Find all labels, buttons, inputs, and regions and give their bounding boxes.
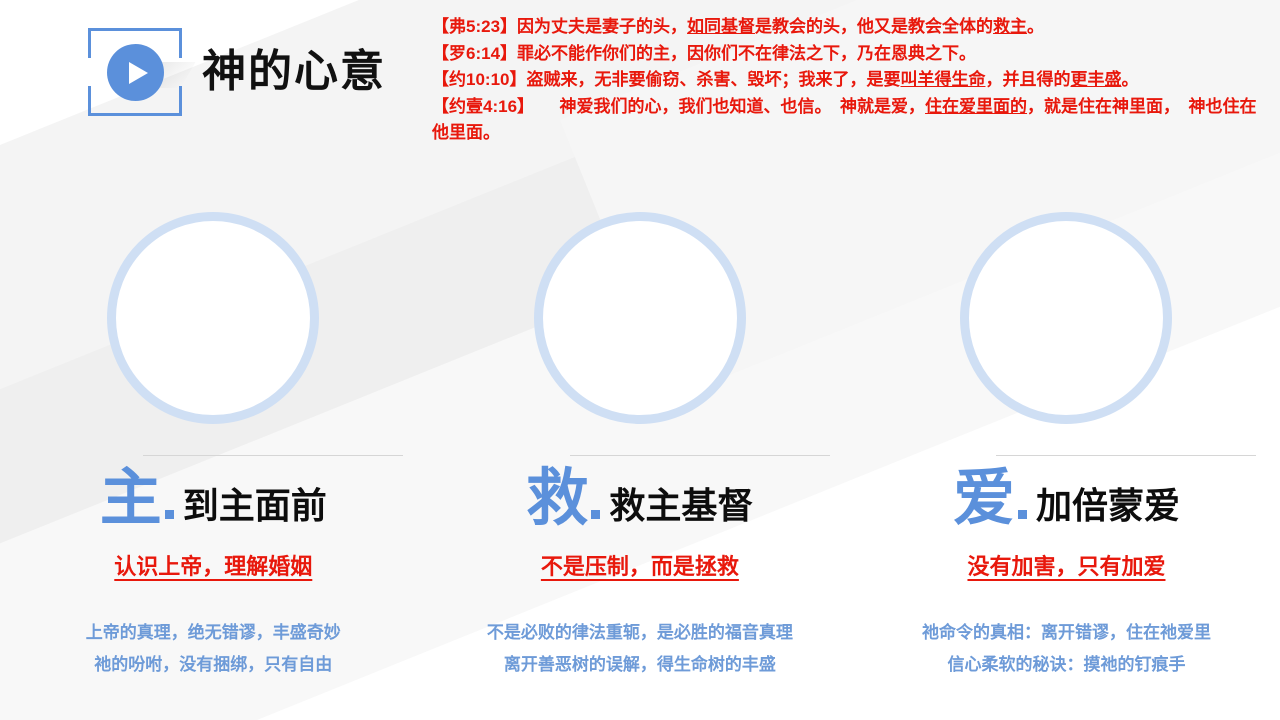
scripture-text: 神爱我们的心，我们也知道、也信。 神就是爱，	[526, 97, 926, 116]
sub-title-2: 救主基督	[609, 488, 753, 524]
blue-line-1-2: 祂的吩咐，没有捆绑，只有自由	[86, 649, 341, 681]
circle-image-2	[534, 212, 746, 424]
blue-line-2-2: 离开善恶树的误解，得生命树的丰盛	[487, 649, 793, 681]
scripture-block: 【弗5:23】因为丈夫是妻子的头，如同基督是教会的头，他又是教会全体的救主。【罗…	[432, 14, 1266, 147]
big-char-1: 主	[100, 470, 162, 527]
scripture-emphasis: 如同基督	[687, 17, 755, 36]
logo-frame-right-lower	[179, 86, 182, 116]
blue-lines-2: 不是必败的律法重轭，是必胜的福音真理 离开善恶树的误解，得生命树的丰盛	[487, 617, 793, 681]
scripture-text: 是教会的头，他又是教会全体的	[755, 17, 993, 36]
column-3: 爱 加倍蒙爱 没有加害，只有加爱 祂命令的真相：离开错谬，住在祂爱里 信心柔软的…	[853, 198, 1280, 681]
blue-line-1-1: 上帝的真理，绝无错谬，丰盛奇妙	[86, 617, 341, 649]
logo-frame-left-lower	[88, 86, 91, 116]
scripture-line-2: 【罗6:14】罪必不能作你们的主，因你们不在律法之下，乃在恩典之下。	[432, 41, 1266, 68]
column-separator-2	[570, 455, 830, 456]
brand-block: 神的心意	[86, 26, 386, 118]
logo-frame-right-upper	[179, 28, 182, 58]
blue-line-3-2: 信心柔软的秘诀：摸祂的钉痕手	[922, 649, 1211, 681]
column-separator-1	[143, 455, 403, 456]
big-char-3: 爱	[953, 470, 1015, 527]
circle-image-1	[107, 212, 319, 424]
column-1: 主 到主面前 认识上帝，理解婚姻 上帝的真理，绝无错谬，丰盛奇妙 祂的吩咐，没有…	[0, 198, 427, 681]
scripture-emphasis: 住在爱里面的	[925, 97, 1027, 116]
logo-frame-left-upper	[88, 28, 91, 58]
heading-dot-1	[165, 510, 174, 519]
slide-canvas: 神的心意 【弗5:23】因为丈夫是妻子的头，如同基督是教会的头，他又是教会全体的…	[0, 0, 1280, 720]
red-title-1: 认识上帝，理解婚姻	[114, 549, 312, 581]
logo-frame-top	[88, 28, 182, 31]
scripture-line-4: 【约壹4:16】 神爱我们的心，我们也知道、也信。 神就是爱，住在爱里面的，就是…	[432, 94, 1266, 147]
slide-header: 神的心意 【弗5:23】因为丈夫是妻子的头，如同基督是教会的头，他又是教会全体的…	[0, 0, 1280, 180]
scripture-text: 。	[1027, 17, 1044, 36]
scripture-line-1: 【弗5:23】因为丈夫是妻子的头，如同基督是教会的头，他又是教会全体的救主。	[432, 14, 1266, 41]
scripture-emphasis: 救主	[993, 17, 1027, 36]
blue-line-2-1: 不是必败的律法重轭，是必胜的福音真理	[487, 617, 793, 649]
blue-lines-1: 上帝的真理，绝无错谬，丰盛奇妙 祂的吩咐，没有捆绑，只有自由	[86, 617, 341, 681]
circle-ring-1	[107, 212, 319, 424]
scripture-text: 。	[1121, 70, 1138, 89]
circle-image-3	[960, 212, 1172, 424]
column-2: 救 救主基督 不是压制，而是拯救 不是必败的律法重轭，是必胜的福音真理 离开善恶…	[427, 198, 854, 681]
scripture-reference-4: 【约壹4:16】	[432, 97, 526, 116]
sub-title-3: 加倍蒙爱	[1036, 488, 1180, 524]
big-char-2: 救	[526, 470, 588, 527]
circle-ring-3	[960, 212, 1172, 424]
column-heading-3: 爱 加倍蒙爱	[853, 470, 1280, 527]
column-heading-2: 救 救主基督	[427, 470, 854, 527]
play-button-in-frame-icon	[86, 26, 184, 118]
page-title: 神的心意	[202, 50, 386, 94]
play-icon	[107, 44, 164, 101]
scripture-reference-3: 【约10:10】	[432, 70, 526, 89]
red-title-2: 不是压制，而是拯救	[541, 549, 739, 581]
logo-frame-bottom	[88, 113, 182, 116]
scripture-text: 罪必不能作你们的主，因你们不在律法之下，乃在恩典之下。	[517, 44, 976, 63]
three-point-columns: 主 到主面前 认识上帝，理解婚姻 上帝的真理，绝无错谬，丰盛奇妙 祂的吩咐，没有…	[0, 198, 1280, 681]
column-separator-3	[996, 455, 1256, 456]
blue-lines-3: 祂命令的真相：离开错谬，住在祂爱里 信心柔软的秘诀：摸祂的钉痕手	[922, 617, 1211, 681]
scripture-text: 盗贼来，无非要偷窃、杀害、毁坏；我来了，是要	[526, 70, 900, 89]
heading-dot-3	[1018, 510, 1027, 519]
scripture-emphasis: 叫羊得生命	[900, 70, 985, 89]
circle-ring-2	[534, 212, 746, 424]
scripture-text: ，并且得的	[985, 70, 1070, 89]
scripture-reference-1: 【弗5:23】	[432, 17, 517, 36]
blue-line-3-1: 祂命令的真相：离开错谬，住在祂爱里	[922, 617, 1211, 649]
red-title-3: 没有加害，只有加爱	[967, 549, 1165, 581]
scripture-emphasis: 更丰盛	[1070, 70, 1121, 89]
scripture-reference-2: 【罗6:14】	[432, 44, 517, 63]
sub-title-1: 到主面前	[183, 488, 327, 524]
scripture-text: 因为丈夫是妻子的头，	[517, 17, 687, 36]
column-heading-1: 主 到主面前	[0, 470, 427, 527]
heading-dot-2	[591, 510, 600, 519]
scripture-line-3: 【约10:10】盗贼来，无非要偷窃、杀害、毁坏；我来了，是要叫羊得生命，并且得的…	[432, 67, 1266, 94]
